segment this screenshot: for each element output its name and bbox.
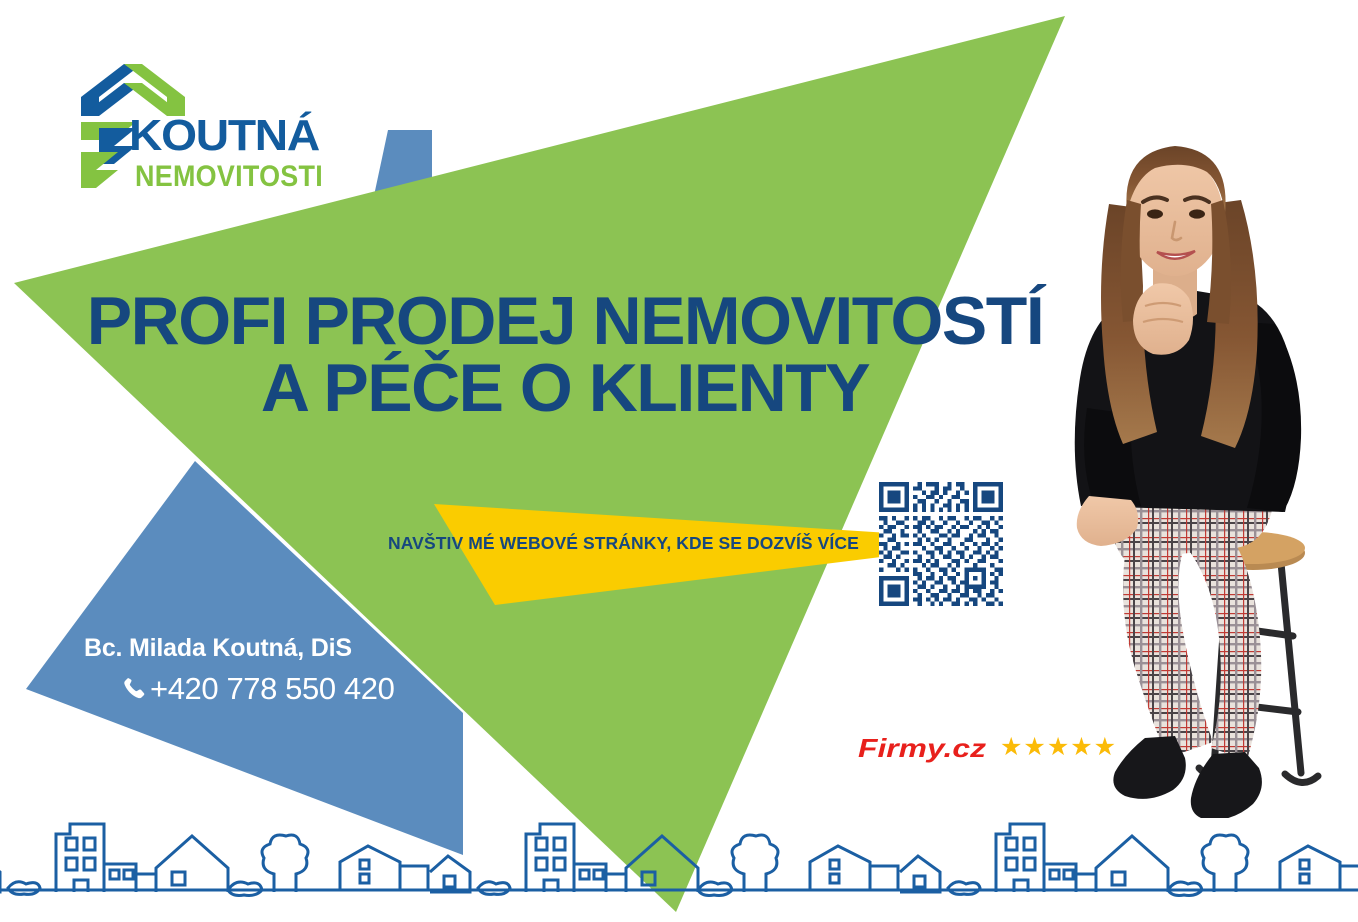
headline: PROFI PRODEJ NEMOVITOSTÍ A PÉČE O KLIENT… <box>60 288 1070 423</box>
skyline-tile-1 <box>0 824 428 895</box>
headline-line-1: PROFI PRODEJ NEMOVITOSTÍ <box>87 283 1043 359</box>
firmy-cz-badge[interactable]: Firmy.cz ★★★★★ <box>858 730 1117 764</box>
logo-wordmark-primary: KOUTNÁ <box>129 110 319 160</box>
phone-number: +420 778 550 420 <box>150 671 394 707</box>
eye-right <box>1189 209 1205 218</box>
advertising-poster: KOUTNÁ NEMOVITOSTI PROFI PRODEJ NEMOVITO… <box>0 0 1358 922</box>
agent-photo <box>985 108 1358 818</box>
trousers-lower-leg <box>1123 548 1213 758</box>
headline-line-2: A PÉČE O KLIENTY <box>60 355 1070 422</box>
koutna-nemovitosti-logo[interactable]: KOUTNÁ NEMOVITOSTI <box>46 52 356 197</box>
eye-left <box>1147 209 1163 218</box>
rating-stars: ★★★★★ <box>1000 735 1117 760</box>
cta-text: NAVŠTIV MÉ WEBOVÉ STRÁNKY, KDE SE DOZVÍŠ… <box>388 533 859 554</box>
phone-line[interactable]: +420 778 550 420 <box>60 671 430 707</box>
firmy-cz-text: Firmy.cz <box>858 733 986 763</box>
shoe-left <box>1113 736 1185 799</box>
skyline-border <box>0 800 1358 904</box>
phone-handset-icon <box>122 676 148 702</box>
skyline-tile-3 <box>900 824 1358 895</box>
agent-name: Bc. Milada Koutná, DiS <box>60 634 430 663</box>
firmy-cz-wordmark: Firmy.cz <box>858 730 988 764</box>
logo-wordmark-secondary: NEMOVITOSTI <box>135 160 323 193</box>
skyline-tile-2 <box>430 824 898 895</box>
contact-block: Bc. Milada Koutná, DiS +420 778 550 420 <box>60 634 430 707</box>
